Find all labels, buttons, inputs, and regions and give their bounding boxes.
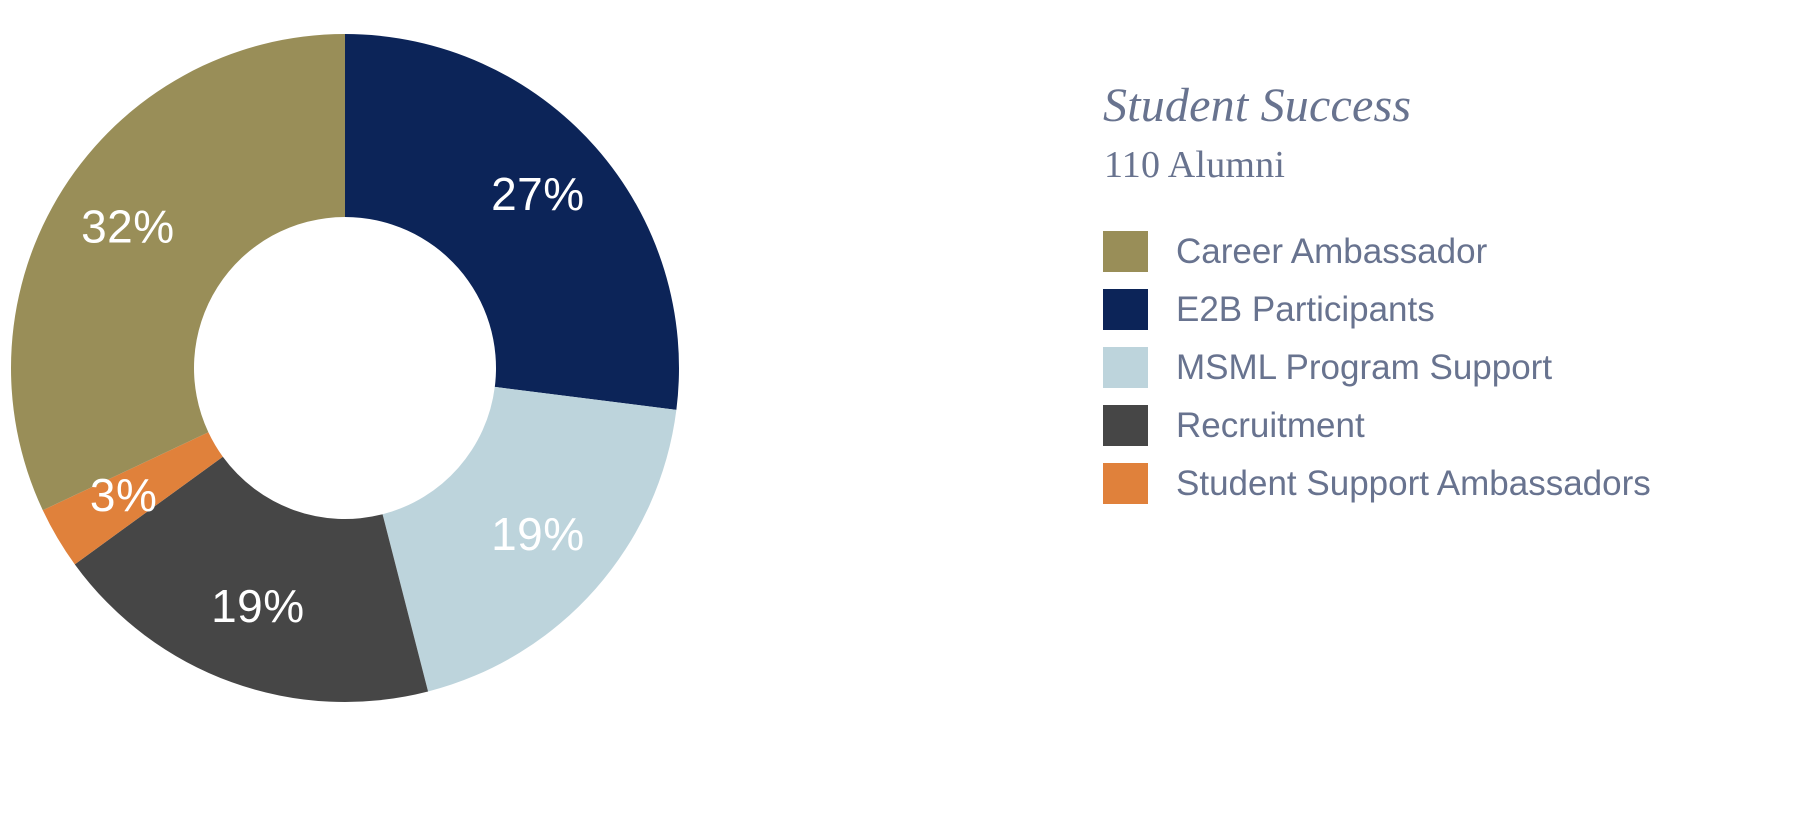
donut-slice-group [11, 34, 679, 702]
chart-legend: Career AmbassadorE2B ParticipantsMSML Pr… [1103, 222, 1800, 512]
donut-slice-label: 3% [90, 469, 157, 521]
legend-color-swatch [1103, 347, 1148, 388]
chart-info-panel: Student Success 110 Alumni Career Ambass… [1103, 0, 1800, 816]
legend-item[interactable]: MSML Program Support [1103, 338, 1800, 396]
chart-subtitle: 110 Alumni [1104, 143, 1285, 187]
legend-color-swatch [1103, 463, 1148, 504]
donut-chart: 27%19%19%3%32% [0, 0, 760, 816]
donut-chart-svg: 27%19%19%3%32% [0, 0, 760, 816]
chart-page: 27%19%19%3%32% Student Success 110 Alumn… [0, 0, 1800, 816]
donut-slice-label: 19% [491, 508, 585, 560]
legend-item-label: MSML Program Support [1176, 350, 1552, 385]
legend-item-label: E2B Participants [1176, 292, 1435, 327]
legend-item[interactable]: E2B Participants [1103, 280, 1800, 338]
legend-color-swatch [1103, 289, 1148, 330]
donut-slice-label: 32% [81, 200, 175, 252]
page-title: Student Success [1103, 78, 1411, 133]
legend-item-label: Student Support Ambassadors [1176, 466, 1651, 501]
legend-item-label: Recruitment [1176, 408, 1365, 443]
donut-slice[interactable] [11, 34, 345, 510]
legend-color-swatch [1103, 231, 1148, 272]
legend-item[interactable]: Recruitment [1103, 396, 1800, 454]
legend-item-label: Career Ambassador [1176, 234, 1487, 269]
legend-item[interactable]: Student Support Ambassadors [1103, 454, 1800, 512]
legend-color-swatch [1103, 405, 1148, 446]
donut-slice-label: 27% [491, 168, 585, 220]
legend-item[interactable]: Career Ambassador [1103, 222, 1800, 280]
donut-slice[interactable] [345, 34, 679, 410]
donut-slice-label: 19% [211, 580, 305, 632]
